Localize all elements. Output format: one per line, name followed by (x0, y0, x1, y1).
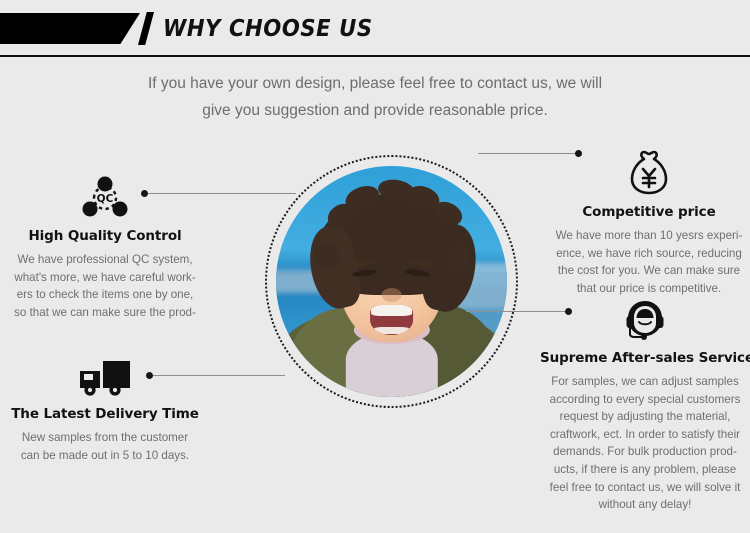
feature-body-line: without any delay! (540, 496, 750, 514)
headset-support-icon (622, 300, 668, 342)
svg-text:QC: QC (97, 193, 114, 205)
feature-body-line: We have professional QC system, (0, 251, 210, 269)
subtitle: If you have your own design, please feel… (95, 70, 655, 124)
feature-title-quality-control: High Quality Control (0, 228, 210, 245)
feature-body-line: We have more than 10 yesrs experi- (548, 227, 750, 245)
photo-mouth (370, 305, 414, 335)
feature-body-line: can be made out in 5 to 10 days. (0, 447, 210, 465)
feature-body-line: so that we can make sure the prod- (0, 304, 210, 322)
feature-body-line: For samples, we can adjust samples (540, 373, 750, 391)
feature-body-line: what's more, we have careful work- (0, 269, 210, 287)
qc-circles-icon: QC (81, 176, 129, 220)
feature-body-line: that our price is competitive. (548, 280, 750, 298)
header-divider (0, 55, 750, 57)
feature-body-line: demands. For bulk production prod- (540, 443, 750, 461)
child-photo (276, 166, 507, 397)
feature-body-line: craftwork, ect. In order to satisfy thei… (540, 426, 750, 444)
delivery-truck-icon (78, 358, 132, 398)
feature-after-sales-services: Supreme After-sales Services For samples… (540, 300, 750, 514)
feature-quality-control: QC High Quality Control We have professi… (0, 176, 210, 321)
photo-teeth-upper (371, 305, 411, 316)
feature-body-competitive-price: We have more than 10 yesrs experi- ence,… (548, 227, 750, 297)
feature-body-line: according to every special customers (540, 391, 750, 409)
header-black-parallelogram (0, 13, 140, 44)
subtitle-line-2: give you suggestion and provide reasonab… (95, 97, 655, 124)
why-choose-us-banner: WHY CHOOSE US If you have your own desig… (0, 0, 750, 533)
subtitle-line-1: If you have your own design, please feel… (95, 70, 655, 97)
feature-body-line: feel free to contact us, we will solve i… (540, 479, 750, 497)
feature-title-competitive-price: Competitive price (548, 204, 750, 221)
feature-body-line: the cost for you. We can make sure (548, 262, 750, 280)
feature-body-quality-control: We have professional QC system, what's m… (0, 251, 210, 321)
header-slash-icon (138, 12, 154, 45)
feature-body-line: ence, we have rich source, reducing (548, 245, 750, 263)
page-title: WHY CHOOSE US (163, 14, 373, 44)
photo-nose (381, 288, 402, 302)
center-photo-dotted-ring (265, 155, 518, 408)
feature-body-after-sales-services: For samples, we can adjust samples accor… (540, 373, 750, 514)
feature-title-delivery-time: The Latest Delivery Time (0, 406, 210, 423)
feature-title-after-sales-services: Supreme After-sales Services (540, 350, 750, 367)
header-band: WHY CHOOSE US (0, 0, 750, 57)
money-bag-yen-icon (627, 150, 671, 196)
feature-body-line: request by adjusting the material, (540, 408, 750, 426)
feature-competitive-price: Competitive price We have more than 10 y… (548, 150, 750, 297)
feature-body-line: ers to check the items one by one, (0, 286, 210, 304)
feature-delivery-time: The Latest Delivery Time New samples fro… (0, 358, 210, 464)
feature-body-line: New samples from the customer (0, 429, 210, 447)
photo-teeth-lower (374, 327, 409, 334)
feature-body-line: ucts, if there is any problem, please (540, 461, 750, 479)
feature-body-delivery-time: New samples from the customer can be mad… (0, 429, 210, 464)
